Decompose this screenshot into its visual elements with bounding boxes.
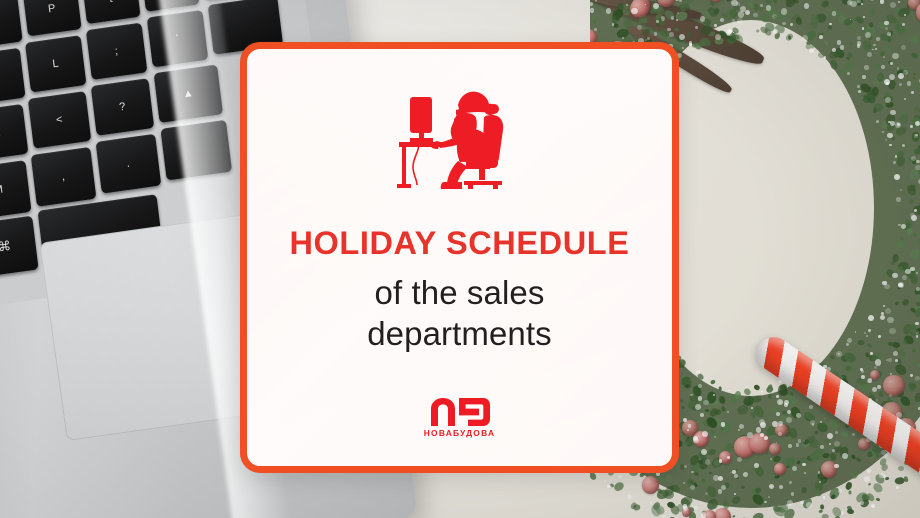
page-subtitle-line-2: departments [367,313,552,355]
brand-logo: НОВАБУДОВА [247,398,672,438]
holiday-schedule-graphic: ⏭ – ] O P [ ] \ O L ; ' K < ? [0,0,920,518]
novabudova-logo-mark [429,398,491,426]
brand-name: НОВАБУДОВА [424,428,496,438]
santa-at-computer-icon [396,87,524,191]
page-title: HOLIDAY SCHEDULE [289,227,629,260]
page-subtitle-line-1: of the sales [367,272,552,314]
announcement-card: HOLIDAY SCHEDULE of the sales department… [240,42,679,473]
page-subtitle: of the sales departments [367,272,552,355]
